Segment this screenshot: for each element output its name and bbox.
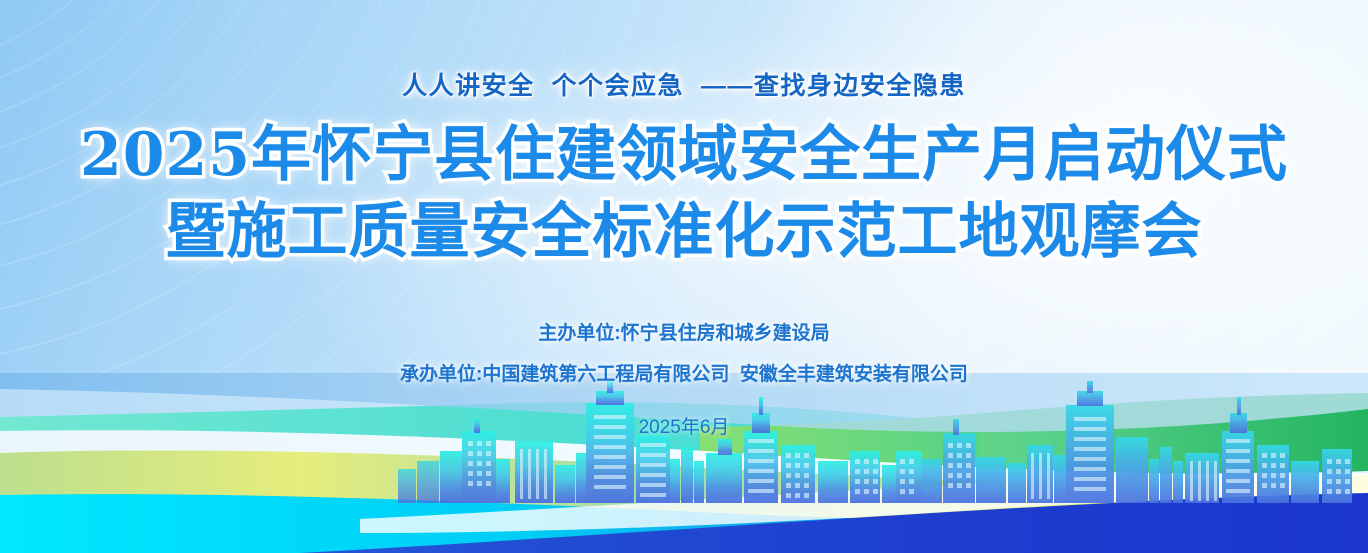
co-organizer-organizations: 承办单位:中国建筑第六工程局有限公司 安徽全丰建筑安装有限公司 (0, 359, 1368, 386)
safety-slogan: 人人讲安全 个个会应急 ——查找身边安全隐患 (0, 66, 1368, 102)
event-banner: 人人讲安全 个个会应急 ——查找身边安全隐患 2025年怀宁县住建领域安全生产月… (0, 0, 1368, 553)
event-title-line-1: 2025年怀宁县住建领域安全生产月启动仪式 (0, 124, 1368, 187)
event-title-line-2: 暨施工质量安全标准化示范工地观摩会 (0, 201, 1368, 264)
banner-text-block: 人人讲安全 个个会应急 ——查找身边安全隐患 2025年怀宁县住建领域安全生产月… (0, 0, 1368, 439)
host-organization: 主办单位:怀宁县住房和城乡建设局 (0, 318, 1368, 345)
event-date: 2025年6月 (0, 412, 1368, 439)
